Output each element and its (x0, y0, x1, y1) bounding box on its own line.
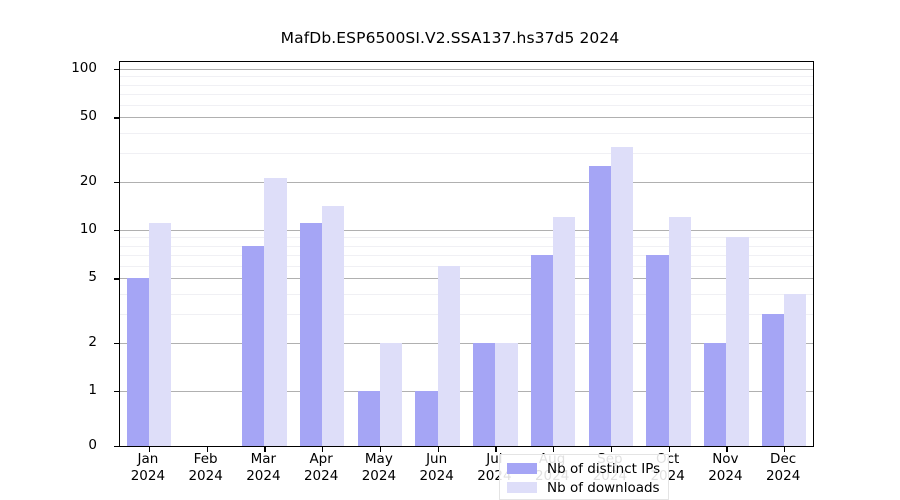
bar-ips-aug (531, 255, 553, 446)
x-axis-tick-label-month: May (362, 451, 396, 468)
legend-swatch-icon (507, 463, 537, 474)
x-axis-tick-label-month: Feb (188, 451, 222, 468)
y-axis-tick-label: 100 (0, 60, 112, 76)
y-axis-tick-label: 10 (0, 221, 112, 237)
bar-dls-may (380, 343, 402, 446)
y-axis-tick (114, 182, 120, 183)
gridline-minor (120, 105, 813, 106)
y-axis-labels: 0125102050100 (0, 61, 112, 445)
bar-dls-jan (149, 223, 171, 446)
gridline-minor (120, 294, 813, 295)
x-axis-tick-label-month: Apr (304, 451, 338, 468)
x-axis-tick-label-month: Nov (708, 451, 742, 468)
gridline-minor (120, 76, 813, 77)
y-axis-tick-label: 20 (0, 173, 112, 189)
legend-item-downloads: Nb of downloads (507, 479, 661, 496)
x-axis-tick-label-month: Jan (131, 451, 165, 468)
x-axis-tick-label-year: 2024 (304, 468, 338, 485)
y-axis-tick-label: 1 (0, 382, 112, 398)
y-axis-tick-label: 2 (0, 334, 112, 350)
gridline-minor (120, 133, 813, 134)
chart-legend: Nb of distinct IPs Nb of downloads (499, 454, 669, 500)
bar-ips-sep (589, 166, 611, 446)
x-axis-tick-label: Jan2024 (131, 451, 165, 485)
x-axis-tick-label-month: Dec (766, 451, 800, 468)
x-axis-tick-label-year: 2024 (708, 468, 742, 485)
x-axis-tick-label: Apr2024 (304, 451, 338, 485)
y-axis-tick (114, 343, 120, 344)
bar-ips-dec (762, 314, 784, 446)
gridline-minor (120, 237, 813, 238)
page-title: MafDb.ESP6500SI.V2.SSA137.hs37d5 2024 (0, 29, 900, 47)
y-axis-tick (114, 230, 120, 231)
y-axis-tick (114, 446, 120, 447)
bar-dls-dec (784, 294, 806, 446)
x-axis-tick-label: Jun2024 (419, 451, 453, 485)
bar-dls-sep (611, 147, 633, 446)
bar-dls-apr (322, 206, 344, 446)
x-axis-tick-label-year: 2024 (419, 468, 453, 485)
y-axis-tick (114, 117, 120, 118)
bar-dls-jul (495, 343, 517, 446)
gridline-minor (120, 266, 813, 267)
x-axis-tick-label-month: Mar (246, 451, 280, 468)
gridline-minor (120, 153, 813, 154)
bar-dls-aug (553, 217, 575, 446)
legend-label-downloads: Nb of downloads (547, 480, 660, 496)
bar-ips-jul (473, 343, 495, 446)
bar-dls-mar (264, 178, 286, 446)
legend-label-ips: Nb of distinct IPs (547, 461, 660, 477)
gridline-minor (120, 255, 813, 256)
x-axis-tick-label: Dec2024 (766, 451, 800, 485)
x-axis-tick-label-year: 2024 (188, 468, 222, 485)
bar-ips-apr (300, 223, 322, 446)
x-axis-tick-label: Nov2024 (708, 451, 742, 485)
bar-ips-oct (646, 255, 668, 446)
gridline-major (120, 278, 813, 279)
bar-dls-jun (438, 266, 460, 446)
x-axis-tick-label: May2024 (362, 451, 396, 485)
plot-area: Nb of distinct IPs Nb of downloads (119, 61, 814, 447)
bar-ips-mar (242, 246, 264, 446)
x-axis-labels: Jan2024Feb2024Mar2024Apr2024May2024Jun20… (119, 451, 812, 495)
legend-swatch-icon (507, 482, 537, 493)
bar-ips-jan (127, 278, 149, 446)
x-axis-tick-label-year: 2024 (246, 468, 280, 485)
x-axis-tick-label: Mar2024 (246, 451, 280, 485)
gridline-minor (120, 94, 813, 95)
x-axis-tick-label-year: 2024 (131, 468, 165, 485)
x-axis-tick-label-year: 2024 (362, 468, 396, 485)
gridline-minor (120, 246, 813, 247)
bar-ips-nov (704, 343, 726, 446)
gridline-major (120, 182, 813, 183)
x-axis-tick-label: Feb2024 (188, 451, 222, 485)
legend-item-ips: Nb of distinct IPs (507, 460, 661, 477)
chart-figure: MafDb.ESP6500SI.V2.SSA137.hs37d5 2024 01… (0, 0, 900, 500)
y-axis-tick (114, 391, 120, 392)
bar-dls-nov (726, 237, 748, 446)
gridline-major (120, 69, 813, 70)
gridline-major (120, 117, 813, 118)
y-axis-tick-label: 0 (0, 437, 112, 453)
x-axis-tick-label-month: Jun (419, 451, 453, 468)
gridline-minor (120, 85, 813, 86)
bar-ips-jun (415, 391, 437, 446)
y-axis-tick (114, 69, 120, 70)
x-axis-tick-label-year: 2024 (766, 468, 800, 485)
y-axis-tick-label: 5 (0, 269, 112, 285)
gridline-minor (120, 314, 813, 315)
y-axis-tick-label: 50 (0, 108, 112, 124)
bar-dls-oct (669, 217, 691, 446)
gridline-major (120, 230, 813, 231)
y-axis-tick (114, 278, 120, 279)
bar-ips-may (358, 391, 380, 446)
